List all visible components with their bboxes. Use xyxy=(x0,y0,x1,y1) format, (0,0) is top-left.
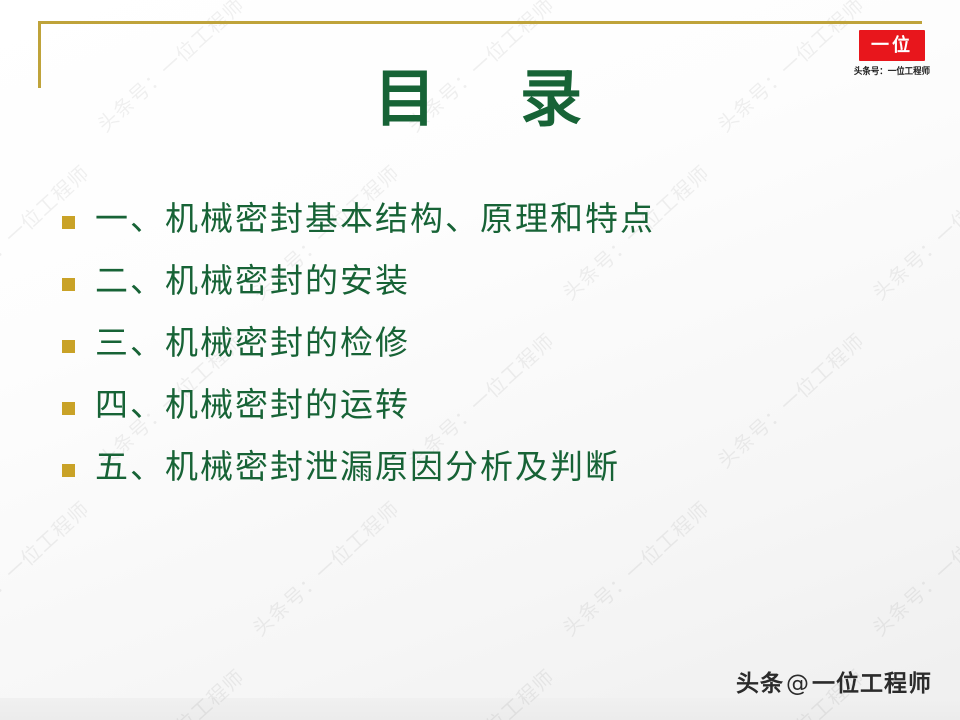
agenda-item-label: 四、机械密封的运转 xyxy=(95,385,410,425)
square-bullet-icon xyxy=(62,278,75,291)
presentation-slide: 头条号：一位工程师头条号：一位工程师头条号：一位工程师头条号：一位工程师头条号：… xyxy=(0,0,960,720)
watermark-text: 头条号：一位工程师 xyxy=(90,662,250,720)
square-bullet-icon xyxy=(62,464,75,477)
brand-logo: 一位 头条号：一位工程师 xyxy=(846,30,938,77)
list-item[interactable]: 三、机械密封的检修 xyxy=(62,312,920,374)
at-symbol-icon: @ xyxy=(784,671,812,697)
agenda-list: 一、机械密封基本结构、原理和特点 二、机械密封的安装 三、机械密封的检修 四、机… xyxy=(62,188,920,498)
agenda-item-label: 二、机械密封的安装 xyxy=(95,261,410,301)
page-title-char-2: 录 xyxy=(520,62,586,135)
page-title: 目录 xyxy=(0,58,960,140)
gold-top-rule xyxy=(38,21,922,24)
footer-watermark: 头条@一位工程师 xyxy=(736,670,932,698)
agenda-item-label: 五、机械密封泄漏原因分析及判断 xyxy=(95,447,620,487)
watermark-text: 头条号：一位工程师 xyxy=(555,494,715,642)
watermark-text: 头条号：一位工程师 xyxy=(400,662,560,720)
bottom-band xyxy=(0,698,960,720)
square-bullet-icon xyxy=(62,216,75,229)
square-bullet-icon xyxy=(62,340,75,353)
list-item[interactable]: 四、机械密封的运转 xyxy=(62,374,920,436)
list-item[interactable]: 二、机械密封的安装 xyxy=(62,250,920,312)
list-item[interactable]: 一、机械密封基本结构、原理和特点 xyxy=(62,188,920,250)
watermark-text: 头条号：一位工程师 xyxy=(865,494,960,642)
agenda-item-label: 三、机械密封的检修 xyxy=(95,323,410,363)
footer-watermark-prefix: 头条 xyxy=(736,671,784,697)
logo-caption: 头条号：一位工程师 xyxy=(849,64,935,77)
list-item[interactable]: 五、机械密封泄漏原因分析及判断 xyxy=(62,436,920,498)
watermark-text: 头条号：一位工程师 xyxy=(0,494,95,642)
footer-watermark-name: 一位工程师 xyxy=(812,671,932,697)
agenda-item-label: 一、机械密封基本结构、原理和特点 xyxy=(95,199,655,239)
logo-mark: 一位 xyxy=(859,30,925,61)
square-bullet-icon xyxy=(62,402,75,415)
watermark-text: 头条号：一位工程师 xyxy=(245,494,405,642)
page-title-char-1: 目 xyxy=(374,62,440,135)
